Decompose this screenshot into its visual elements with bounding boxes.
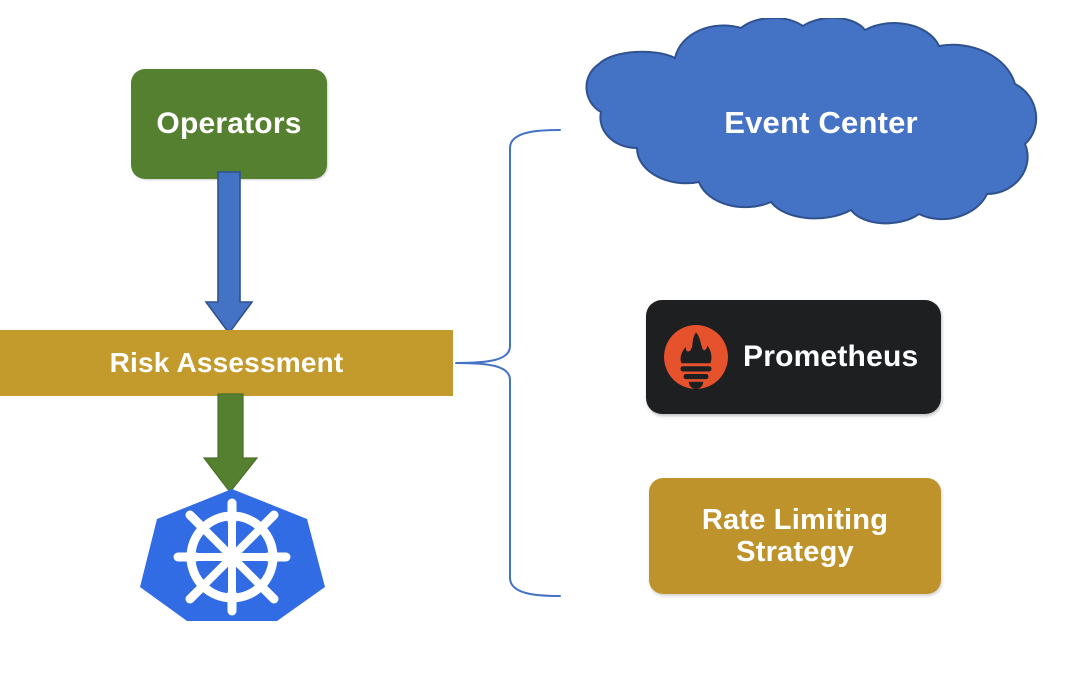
arrow-shape-green [204, 394, 257, 492]
node-risk-assessment-label: Risk Assessment [110, 347, 344, 378]
node-operators[interactable]: Operators [131, 69, 327, 179]
node-prometheus[interactable]: Prometheus [646, 300, 941, 414]
cloud-shape [586, 18, 1036, 223]
node-event-center[interactable] [563, 18, 1041, 226]
kubernetes-icon[interactable] [137, 487, 327, 623]
brace-connector [448, 126, 568, 604]
diagram-canvas: Operators Risk Assessment [0, 0, 1080, 700]
node-prometheus-label: Prometheus [743, 340, 918, 374]
node-rate-limiting-strategy-label: Rate Limiting Strategy [702, 504, 888, 569]
node-risk-assessment[interactable]: Risk Assessment [0, 330, 453, 396]
node-rate-limiting-strategy[interactable]: Rate Limiting Strategy [649, 478, 941, 594]
kubernetes-helm-glyph [178, 503, 286, 611]
arrow-risk-assessment-to-kubernetes [198, 394, 264, 494]
arrow-operators-to-risk-assessment [200, 172, 260, 338]
node-operators-label: Operators [156, 107, 301, 141]
prometheus-icon [663, 324, 729, 390]
brace-path [456, 130, 560, 596]
arrow-shape-blue [206, 172, 252, 333]
